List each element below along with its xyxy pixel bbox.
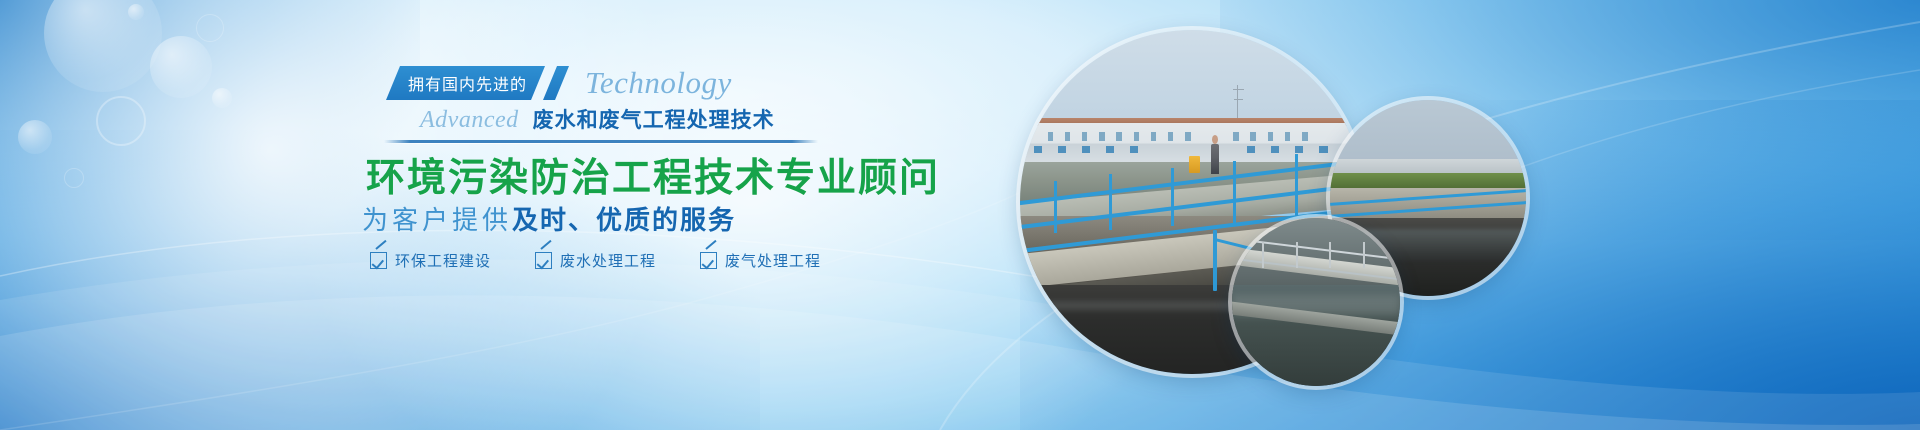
photo-cluster [0,0,1920,430]
promo-banner: 拥有国内先进的 Technology Advanced 废水和废气工程处理技术 … [0,0,1920,430]
basin-walkway-photo [1232,218,1400,386]
